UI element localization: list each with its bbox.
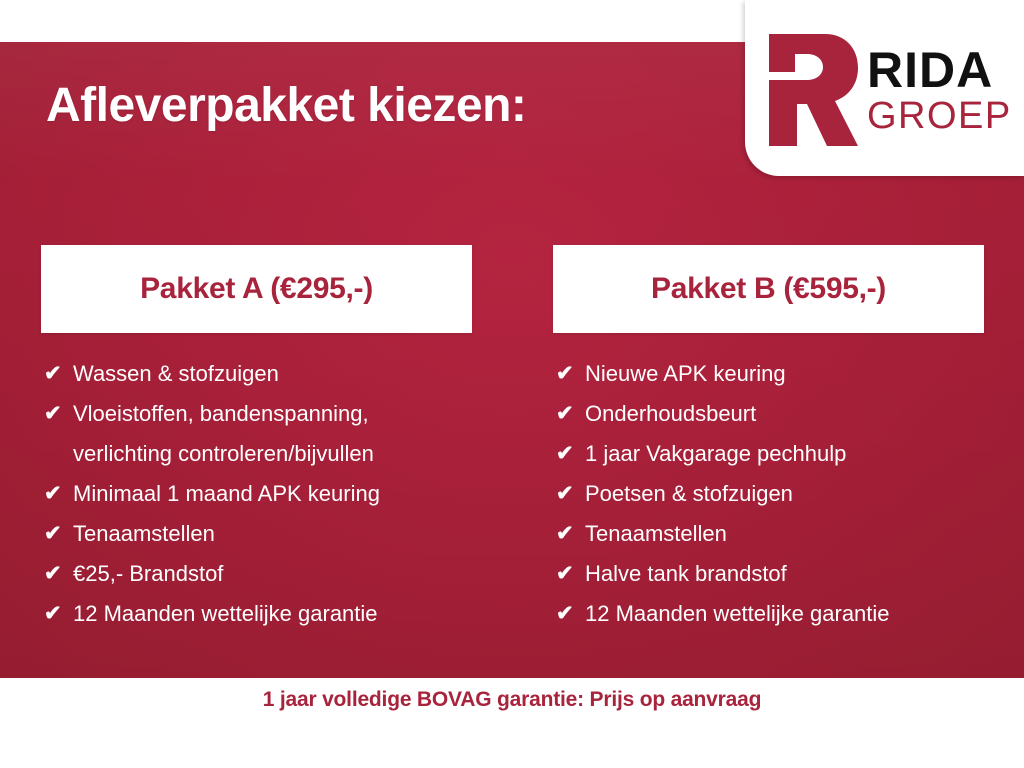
check-icon: ✔: [41, 554, 73, 594]
package-a-feature-list: ✔ Wassen & stofzuigen ✔ Vloeistoffen, ba…: [41, 354, 472, 634]
feature-label: 1 jaar Vakgarage pechhulp: [585, 434, 984, 474]
list-item: ✔ Nieuwe APK keuring: [553, 354, 984, 394]
feature-label: Tenaamstellen: [585, 514, 984, 554]
page-title: Afleverpakket kiezen:: [46, 78, 526, 133]
check-icon: ✔: [553, 594, 585, 634]
feature-label: Poetsen & stofzuigen: [585, 474, 984, 514]
logo-subname: GROEP: [867, 97, 1012, 135]
list-item: ✔ Vloeistoffen, bandenspanning, verlicht…: [41, 394, 472, 474]
logo-wordmark: RIDA GROEP: [867, 45, 1012, 135]
check-icon: ✔: [41, 514, 73, 554]
package-a-header[interactable]: Pakket A (€295,-): [41, 245, 472, 333]
list-item: ✔ Minimaal 1 maand APK keuring: [41, 474, 472, 514]
check-icon: ✔: [41, 394, 73, 434]
logo-name: RIDA: [867, 45, 1012, 95]
package-b-header[interactable]: Pakket B (€595,-): [553, 245, 984, 333]
feature-label: Minimaal 1 maand APK keuring: [73, 474, 472, 514]
rida-r-monogram-icon: [763, 34, 859, 146]
list-item: ✔ Onderhoudsbeurt: [553, 394, 984, 434]
feature-label: Tenaamstellen: [73, 514, 472, 554]
check-icon: ✔: [553, 354, 585, 394]
package-column-b: Pakket B (€595,-) ✔ Nieuwe APK keuring ✔…: [553, 245, 984, 634]
list-item: ✔ 12 Maanden wettelijke garantie: [553, 594, 984, 634]
list-item: ✔ Halve tank brandstof: [553, 554, 984, 594]
feature-label: Wassen & stofzuigen: [73, 354, 472, 394]
list-item: ✔ Tenaamstellen: [553, 514, 984, 554]
list-item: ✔ Poetsen & stofzuigen: [553, 474, 984, 514]
feature-label: 12 Maanden wettelijke garantie: [73, 594, 472, 634]
footer-note: 1 jaar volledige BOVAG garantie: Prijs o…: [263, 688, 761, 768]
list-item: ✔ 12 Maanden wettelijke garantie: [41, 594, 472, 634]
list-item: ✔ €25,- Brandstof: [41, 554, 472, 594]
list-item: ✔ Wassen & stofzuigen: [41, 354, 472, 394]
footer-bar: 1 jaar volledige BOVAG garantie: Prijs o…: [0, 678, 1024, 768]
list-item: ✔ Tenaamstellen: [41, 514, 472, 554]
check-icon: ✔: [41, 354, 73, 394]
package-b-feature-list: ✔ Nieuwe APK keuring ✔ Onderhoudsbeurt ✔…: [553, 354, 984, 634]
check-icon: ✔: [553, 474, 585, 514]
feature-label: Onderhoudsbeurt: [585, 394, 984, 434]
logo-panel: RIDA GROEP: [745, 0, 1024, 176]
feature-label: Halve tank brandstof: [585, 554, 984, 594]
feature-label: €25,- Brandstof: [73, 554, 472, 594]
feature-label: 12 Maanden wettelijke garantie: [585, 594, 984, 634]
slide-root: RIDA GROEP Afleverpakket kiezen: Pakket …: [0, 0, 1024, 768]
list-item: ✔ 1 jaar Vakgarage pechhulp: [553, 434, 984, 474]
logo-lockup: RIDA GROEP: [763, 32, 1011, 148]
check-icon: ✔: [553, 394, 585, 434]
package-column-a: Pakket A (€295,-) ✔ Wassen & stofzuigen …: [41, 245, 472, 634]
package-b-heading: Pakket B (€595,-): [651, 272, 886, 306]
check-icon: ✔: [41, 474, 73, 514]
check-icon: ✔: [553, 554, 585, 594]
check-icon: ✔: [553, 514, 585, 554]
feature-label: Nieuwe APK keuring: [585, 354, 984, 394]
check-icon: ✔: [41, 594, 73, 634]
check-icon: ✔: [553, 434, 585, 474]
feature-label: Vloeistoffen, bandenspanning, verlichtin…: [73, 394, 472, 474]
package-a-heading: Pakket A (€295,-): [140, 272, 373, 306]
